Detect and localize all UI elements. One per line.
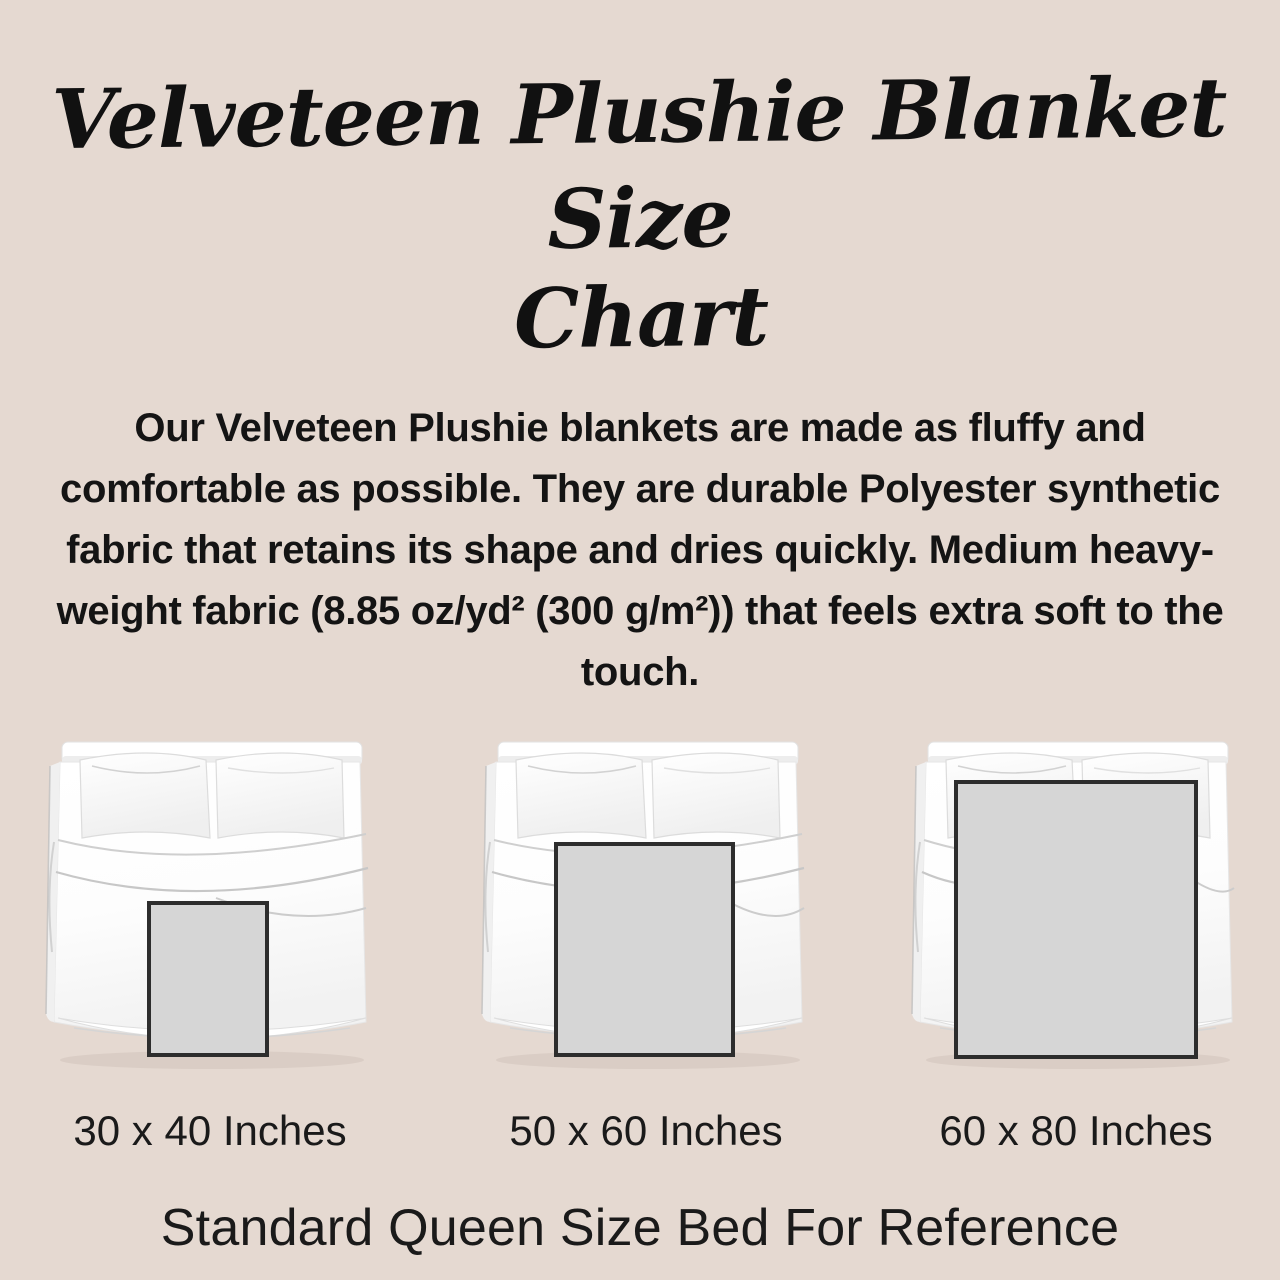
blanket-swatch-icon (149, 903, 267, 1055)
blanket-swatch-icon (956, 782, 1196, 1057)
size-label-60x80: 60 x 80 Inches (902, 1105, 1250, 1157)
footer-caption: Standard Queen Size Bed For Reference (0, 1196, 1280, 1260)
bed-icon (36, 722, 384, 1074)
size-label-30x40: 30 x 40 Inches (36, 1105, 384, 1157)
page-title-line-2: Chart (1, 259, 1280, 377)
bed-illustration-30x40 (36, 722, 384, 1074)
bed-illustration-60x80 (902, 722, 1250, 1074)
size-label-50x60: 50 x 60 Inches (472, 1105, 820, 1157)
page-title-line-1: Velveteen Plushie Blanket Size (0, 55, 1280, 278)
size-label-row: 30 x 40 Inches 50 x 60 Inches 60 x 80 In… (0, 1105, 1280, 1157)
bed-illustration-50x60 (472, 722, 820, 1074)
bed-illustration-row (0, 722, 1280, 1074)
bed-icon (902, 722, 1250, 1074)
page-title: Velveteen Plushie Blanket Size Chart (0, 55, 1280, 377)
bed-icon (472, 722, 820, 1074)
size-chart-page: Velveteen Plushie Blanket Size Chart Our… (0, 0, 1280, 1280)
blanket-swatch-icon (556, 844, 733, 1055)
intro-paragraph: Our Velveteen Plushie blankets are made … (28, 398, 1252, 703)
